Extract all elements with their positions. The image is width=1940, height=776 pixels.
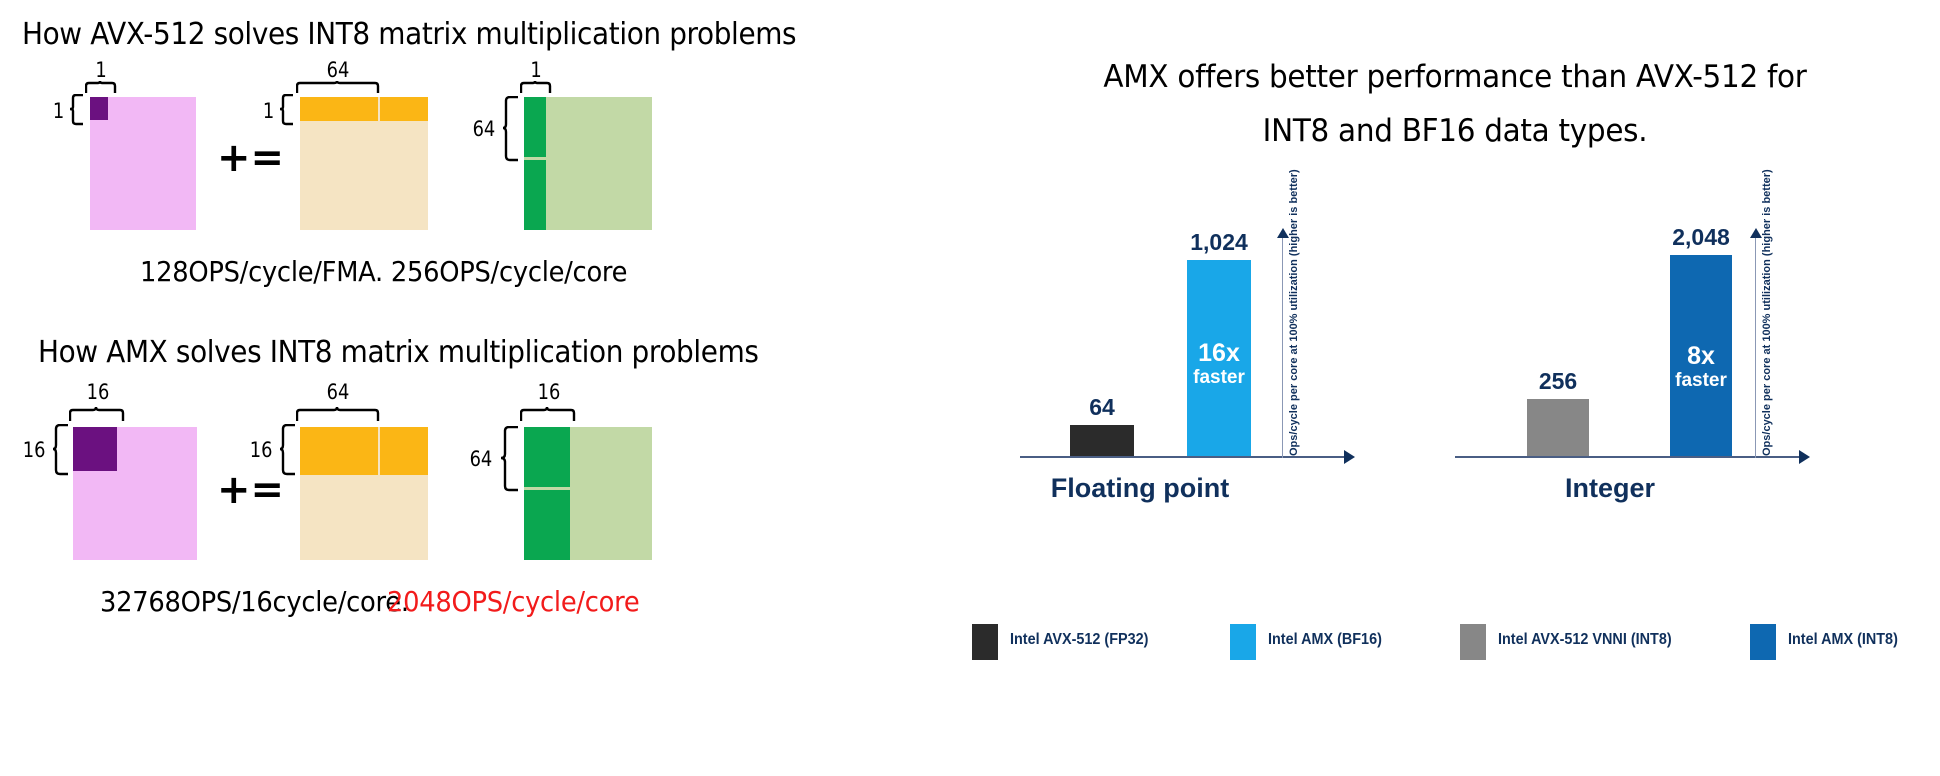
- amx-diagram-title: How AMX solves INT8 matrix multiplicatio…: [38, 335, 759, 370]
- matrix-a-highlight-block-left: [300, 427, 378, 475]
- legend-swatch-amx-bf16: [1230, 624, 1256, 660]
- amx-c-rows-brace: [52, 424, 70, 476]
- amx-a-cols-label: 64: [315, 380, 361, 404]
- avx512-a-rows-label: 1: [254, 99, 274, 123]
- bar-value-avx512-fp32: 64: [1070, 394, 1134, 421]
- matrix-c-highlight-block: [73, 427, 117, 471]
- x-axis-arrow-icon: [1799, 450, 1810, 464]
- legend-label-avx512-fp32: Intel AVX-512 (FP32): [1010, 631, 1148, 649]
- matrix-b-highlight-col-bottom: [524, 160, 546, 230]
- y-axis-line: [1282, 236, 1283, 458]
- x-axis-line: [1455, 456, 1800, 458]
- amx-a-rows-brace: [279, 424, 297, 476]
- matrix-a-highlight-block-right: [380, 427, 428, 475]
- category-label-floating-point: Floating point: [980, 473, 1300, 504]
- avx512-b-cols-brace: [520, 80, 552, 94]
- chart-heading: AMX offers better performance than AVX-5…: [994, 50, 1916, 159]
- avx512-a-cols-label: 64: [315, 58, 361, 82]
- avx512-c-rows-brace: [69, 94, 85, 126]
- chart-heading-line-2: INT8 and BF16 data types.: [994, 104, 1916, 158]
- avx512-a-rows-brace: [279, 94, 295, 126]
- matrix-b-highlight-block-top: [524, 427, 570, 487]
- legend-label-avx512-vnni-int8: Intel AVX-512 VNNI (INT8): [1498, 631, 1672, 649]
- bar-avx512-vnni-int8: [1527, 399, 1589, 456]
- avx512-a-cols-brace: [296, 80, 380, 94]
- amx-a-rows-label: 16: [244, 438, 273, 462]
- amx-b-rows-brace: [500, 426, 520, 492]
- amx-matrix-c: [73, 427, 197, 560]
- avx512-matrix-a: [300, 97, 428, 230]
- x-axis-line: [1020, 456, 1345, 458]
- y-axis-label: Ops/cycle per core at 100% utilization (…: [1288, 236, 1301, 456]
- slide-root: How AVX-512 solves INT8 matrix multiplic…: [0, 0, 1940, 776]
- amx-a-cols-brace: [296, 406, 380, 422]
- bar-annotation-multiplier: 16x: [1187, 340, 1251, 368]
- legend-swatch-avx512-fp32: [972, 624, 998, 660]
- y-axis-label: Ops/cycle per core at 100% utilization (…: [1761, 236, 1774, 456]
- matrix-b-highlight-col-top: [524, 97, 546, 157]
- avx512-plus-equals-operator: +=: [217, 138, 284, 178]
- amx-b-cols-label: 16: [527, 380, 571, 404]
- bar-annotation-multiplier: 8x: [1670, 343, 1732, 371]
- matrix-a-highlight-row-left: [300, 97, 378, 121]
- bar-avx512-fp32: [1070, 425, 1134, 456]
- avx512-c-rows-label: 1: [44, 99, 64, 123]
- matrix-b-highlight-block-bottom: [524, 490, 570, 560]
- amx-c-cols-label: 16: [76, 380, 120, 404]
- category-label-integer: Integer: [1445, 473, 1775, 504]
- amx-c-cols-brace: [69, 406, 125, 422]
- right-chart-panel: AMX offers better performance than AVX-5…: [970, 0, 1940, 776]
- avx512-diagram-title: How AVX-512 solves INT8 matrix multiplic…: [22, 17, 796, 52]
- avx512-c-cols-brace: [85, 80, 117, 94]
- avx512-matrix-c: [90, 97, 196, 230]
- legend-swatch-amx-int8: [1750, 624, 1776, 660]
- matrix-a-highlight-row-right: [380, 97, 428, 121]
- amx-plus-equals-operator: +=: [217, 470, 284, 510]
- chart-integer: 256 8x faster 2,048 Ops/cycle per core a…: [1435, 220, 1940, 520]
- bar-annotation-amx-bf16: 16x faster: [1187, 340, 1251, 388]
- matrix-c-highlight-cell: [90, 97, 108, 120]
- legend-label-amx-int8: Intel AMX (INT8): [1788, 631, 1898, 649]
- y-axis-line: [1755, 236, 1756, 458]
- amx-throughput-caption-red: 2048OPS/cycle/core: [387, 585, 639, 618]
- amx-b-rows-label: 64: [462, 447, 493, 471]
- avx512-b-rows-brace: [502, 96, 520, 162]
- amx-throughput-caption-black: 32768OPS/16cycle/core.: [100, 585, 409, 618]
- legend-swatch-avx512-vnni-int8: [1460, 624, 1486, 660]
- avx512-matrix-b: [524, 97, 652, 230]
- bar-amx-bf16: 16x faster: [1187, 260, 1251, 456]
- bar-annotation-faster: faster: [1187, 368, 1251, 389]
- avx512-c-cols-label: 1: [88, 58, 114, 82]
- amx-matrix-a: [300, 427, 428, 560]
- amx-matrix-b: [524, 427, 652, 560]
- amx-c-rows-label: 16: [17, 438, 46, 462]
- x-axis-arrow-icon: [1344, 450, 1355, 464]
- bar-value-amx-int8: 2,048: [1670, 224, 1732, 251]
- chart-heading-line-1: AMX offers better performance than AVX-5…: [994, 50, 1916, 104]
- bar-value-avx512-vnni-int8: 256: [1527, 368, 1589, 395]
- avx512-throughput-caption: 128OPS/cycle/FMA. 256OPS/cycle/core: [140, 255, 627, 288]
- legend-label-amx-bf16: Intel AMX (BF16): [1268, 631, 1382, 649]
- avx512-b-rows-label: 64: [465, 117, 496, 141]
- avx512-b-cols-label: 1: [523, 58, 549, 82]
- chart-floating-point: 64 16x faster 1,024 Ops/cycle per core a…: [870, 220, 1380, 520]
- bar-annotation-faster: faster: [1670, 371, 1732, 392]
- left-diagram-panel: How AVX-512 solves INT8 matrix multiplic…: [0, 0, 970, 776]
- bar-value-amx-bf16: 1,024: [1187, 229, 1251, 256]
- bar-amx-int8: 8x faster: [1670, 255, 1732, 456]
- chart-legend: Intel AVX-512 (FP32) Intel AMX (BF16) In…: [970, 620, 1940, 680]
- amx-b-cols-brace: [520, 406, 576, 422]
- bar-annotation-amx-int8: 8x faster: [1670, 343, 1732, 391]
